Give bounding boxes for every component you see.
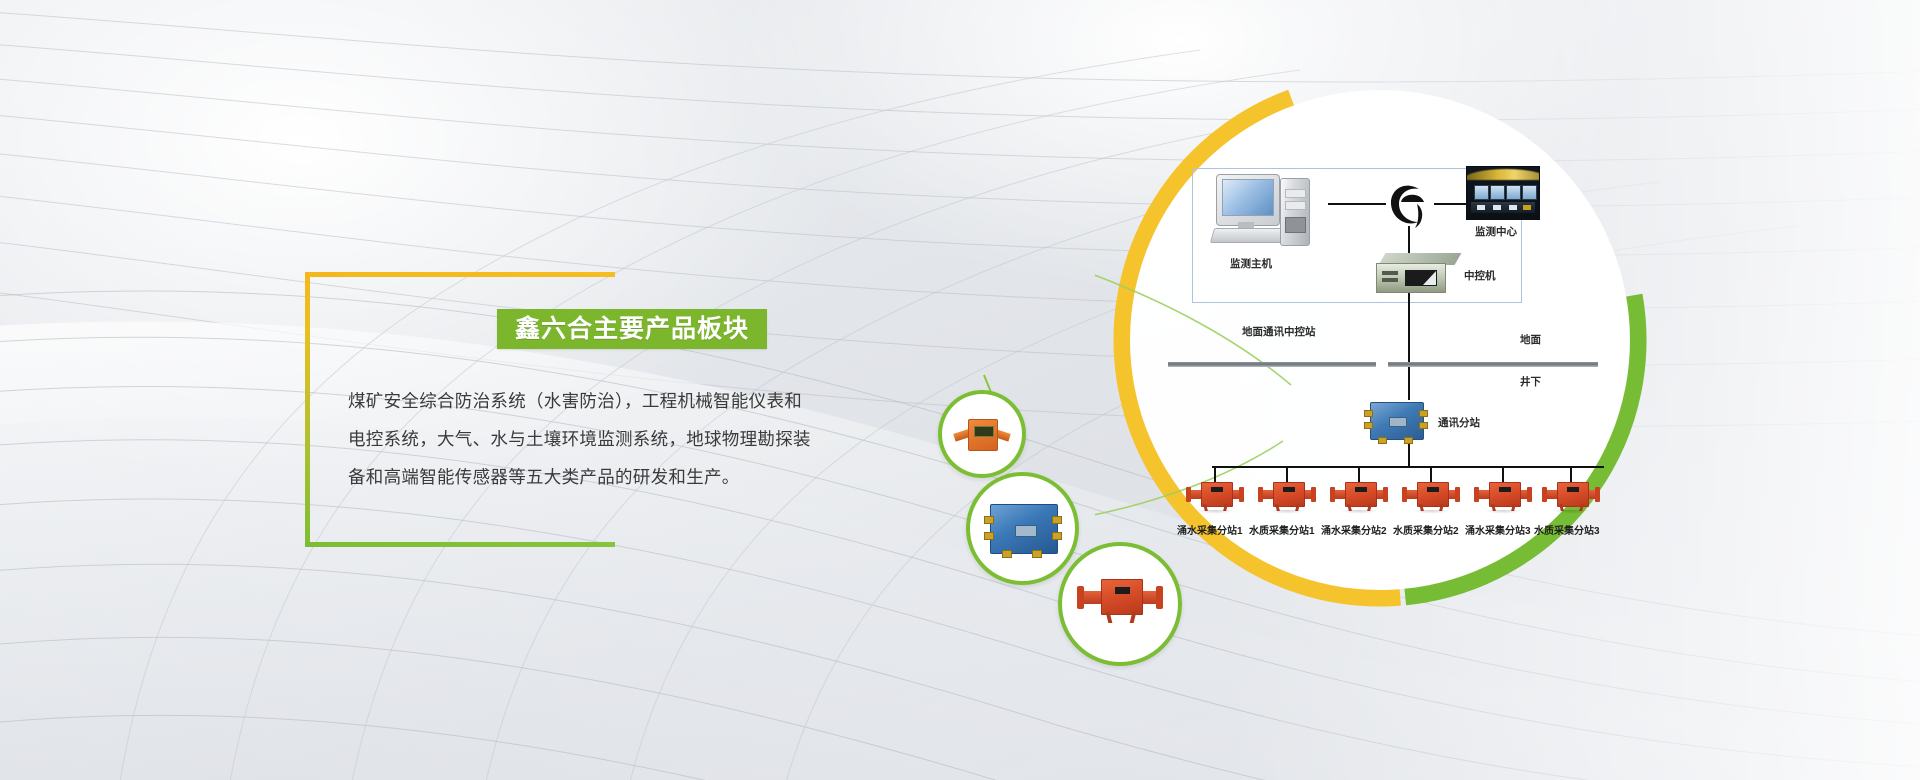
callout-blue-box-bubble[interactable] [966,472,1079,585]
station-label: 水质采集分站2 [1393,522,1459,537]
wire-controller-to-substation [1408,290,1410,400]
station-label: 水质采集分站1 [1249,522,1315,537]
pc-tower-icon [1280,178,1310,246]
collection-station-icon [1186,468,1244,514]
collection-station-icon [1330,468,1388,514]
collection-station-icon [1474,468,1532,514]
node-label-monitor-center: 监测中心 [1475,224,1517,239]
callout-sensor-bubble[interactable] [938,390,1026,478]
ground-line [1168,362,1598,367]
description-line-2: 电控系统，大气、水与土壤环境监测系统，地球物理勘探装 [348,420,868,458]
collection-station-icon [1402,468,1460,514]
label-surface-control-station: 地面通讯中控站 [1242,324,1316,339]
rack-server-icon [1376,253,1458,293]
wire-host-to-hub [1328,203,1386,205]
description-text: 煤矿安全综合防治系统（水害防治），工程机械智能仪表和 电控系统，大气、水与土壤环… [348,382,868,496]
blue-junction-box-product-icon [984,500,1062,558]
monitor-icon [1216,174,1280,226]
frame-bottom-edge [305,542,615,547]
node-label-central-controller: 中控机 [1464,268,1496,283]
collection-station-icon [1258,468,1316,514]
ethernet-e-logo-icon [1388,182,1432,228]
station-label: 涌水采集分站3 [1465,522,1531,537]
station-label: 水质采集分站3 [1534,522,1600,537]
keyboard-icon [1210,228,1290,243]
frame-left-edge [305,272,310,547]
wire-hub-to-controller [1408,226,1410,256]
station-label: 涌水采集分站1 [1177,522,1243,537]
wire-substation-to-trunk [1408,440,1410,468]
page-title: 鑫六合主要产品板块 [515,309,749,349]
banner-stage: 鑫六合主要产品板块 煤矿安全综合防治系统（水害防治），工程机械智能仪表和 电控系… [0,0,1920,780]
blue-explosion-proof-box-icon [1364,398,1428,444]
description-line-1: 煤矿安全综合防治系统（水害防治），工程机械智能仪表和 [348,382,868,420]
control-room-photo [1466,166,1540,220]
desktop-computer-icon [1212,172,1322,252]
section-title-banner: 鑫六合主要产品板块 [497,309,767,349]
collection-station-row [1168,468,1598,520]
label-surface-level: 地面 [1520,332,1541,347]
red-flow-meter-product-icon [1077,573,1163,635]
collection-station-icon [1542,468,1600,514]
description-line-3: 备和高端智能传感器等五大类产品的研发和生产。 [348,458,868,496]
label-underground-level: 井下 [1520,374,1541,389]
orange-sensor-product-icon [954,419,1010,449]
node-label-comm-substation: 通讯分站 [1438,415,1480,430]
frame-top-edge [305,272,615,277]
station-label: 涌水采集分站2 [1321,522,1387,537]
system-topology-diagram: 监测主机 中控机 监测中心 地面通讯中控站 地面 [1168,150,1598,520]
callout-valve-bubble[interactable] [1058,542,1182,666]
node-label-monitor-host: 监测主机 [1230,256,1272,271]
